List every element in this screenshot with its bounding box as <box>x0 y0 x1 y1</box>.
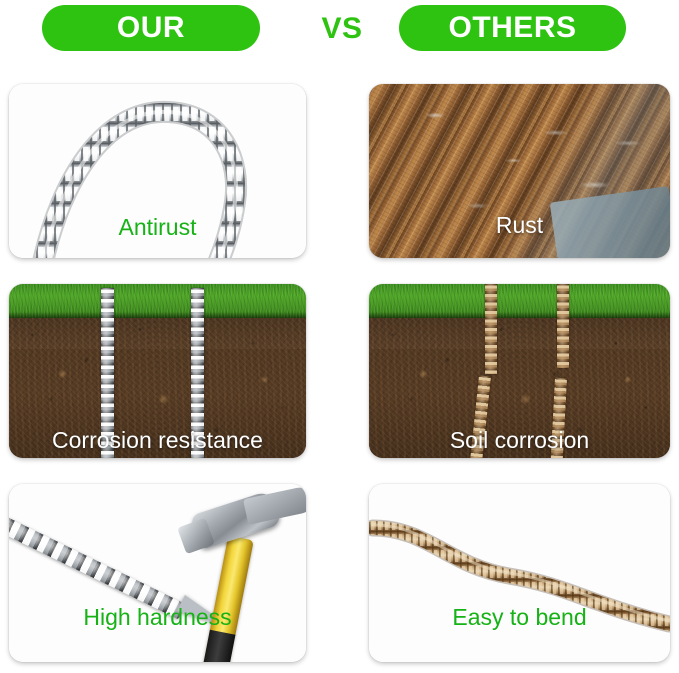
soil-layer <box>369 318 670 458</box>
grass-layer <box>369 284 670 318</box>
vs-label: VS <box>300 7 384 51</box>
soil-layer <box>9 318 306 458</box>
our-pill: OUR <box>42 5 260 51</box>
galvanized-u-bar-icon <box>9 84 306 258</box>
silver-stake-left <box>101 288 114 458</box>
soil-grain-texture <box>9 318 306 458</box>
card-high-hardness-image <box>9 484 306 662</box>
rusty-stake-left-upper <box>485 284 497 374</box>
card-easy-to-bend: Easy to bend <box>369 484 670 662</box>
card-soil-corrosion: Soil corrosion <box>369 284 670 458</box>
soil-grain-texture <box>369 318 670 458</box>
silver-stake-right <box>191 288 204 458</box>
rusty-stake-right-upper <box>557 284 569 368</box>
card-corrosion-resistance: Corrosion resistance <box>9 284 306 458</box>
card-corrosion-resistance-image <box>9 284 306 458</box>
card-easy-to-bend-image <box>369 484 670 662</box>
card-soil-corrosion-image <box>369 284 670 458</box>
bent-rusty-rebar-icon <box>369 484 670 662</box>
comparison-header: OUR VS OTHERS <box>0 0 679 62</box>
card-high-hardness: High hardness <box>9 484 306 662</box>
card-rust: Rust <box>369 84 670 258</box>
others-pill: OTHERS <box>399 5 626 51</box>
grass-layer <box>9 284 306 318</box>
card-antirust-image <box>9 84 306 258</box>
card-antirust: Antirust <box>9 84 306 258</box>
card-rust-image <box>369 84 670 258</box>
